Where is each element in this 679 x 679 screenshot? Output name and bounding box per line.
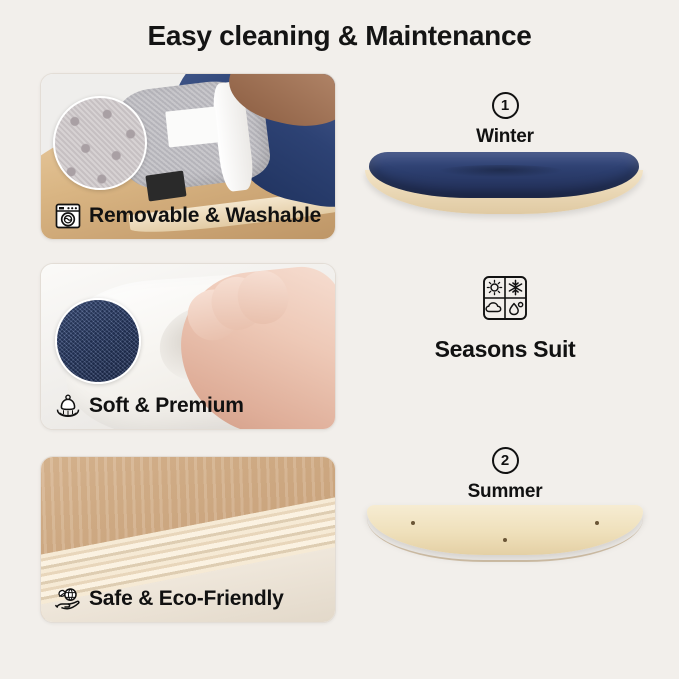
- care-label-tag: [166, 106, 219, 147]
- season-block-summer: 2 Summer: [355, 447, 655, 503]
- feature-card-soft-premium: Soft & Premium: [40, 263, 336, 430]
- board-screw-dot: [503, 538, 507, 542]
- feature-label-row: Soft & Premium: [53, 391, 244, 421]
- feature-card-safe-eco-friendly: Safe & Eco-Friendly: [40, 456, 336, 623]
- washing-machine-icon: [53, 201, 83, 231]
- cushion-seam-shadow: [439, 165, 563, 177]
- eco-hand-globe-icon: [53, 584, 83, 614]
- navy-cushion-cover: [369, 152, 639, 198]
- board-lamination-edge: [367, 512, 643, 562]
- seasons-suit-title: Seasons Suit: [355, 336, 655, 363]
- season-block-winter: 1 Winter: [355, 92, 655, 148]
- feature-label-row: Removable & Washable: [53, 201, 321, 231]
- board-screw-dot: [595, 521, 599, 525]
- cushion-icon: [53, 391, 83, 421]
- feature-card-removable-washable: Removable & Washable: [40, 73, 336, 240]
- feature-label-text: Safe & Eco-Friendly: [89, 587, 284, 611]
- page-title: Easy cleaning & Maintenance: [0, 20, 679, 52]
- seasons-suit-block: Seasons Suit: [355, 274, 655, 363]
- board-photo-winter: [355, 148, 655, 220]
- season-name-winter: Winter: [355, 126, 655, 148]
- season-name-summer: Summer: [355, 481, 655, 503]
- feature-label-text: Soft & Premium: [89, 394, 244, 418]
- season-number-badge-winter: 1: [492, 92, 519, 119]
- season-number-badge-summer: 2: [492, 447, 519, 474]
- four-seasons-weather-icon: [481, 274, 529, 322]
- feature-label-row: Safe & Eco-Friendly: [53, 584, 284, 614]
- magnified-inset-blue-fabric-texture: [55, 298, 141, 384]
- feature-label-text: Removable & Washable: [89, 204, 321, 228]
- board-photo-summer: [355, 505, 655, 569]
- magnified-inset-antislip-texture: [53, 96, 147, 190]
- board-screw-dot: [411, 521, 415, 525]
